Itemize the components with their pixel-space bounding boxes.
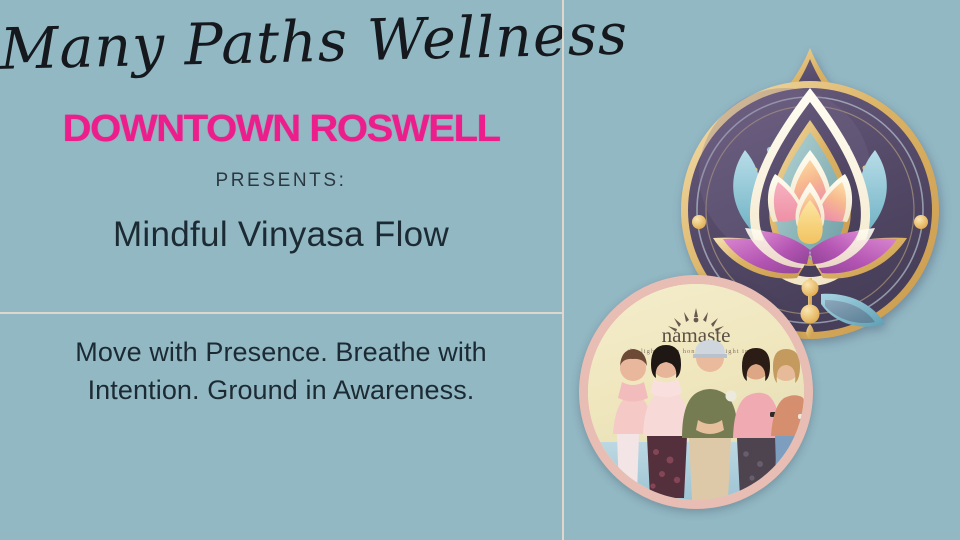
horizontal-divider: [0, 312, 562, 314]
presents-label: PRESENTS:: [0, 170, 562, 192]
flyer-canvas: Many Paths Wellness DOWNTOWN ROSWELL PRE…: [0, 0, 960, 540]
media-panel: Circular mandala badge with gold rim, da…: [563, 0, 960, 540]
person-5: [771, 349, 804, 496]
session-title: Mindful Vinyasa Flow: [0, 215, 562, 255]
team-photo: Round photo of five studio members stand…: [579, 275, 813, 509]
text-panel: Many Paths Wellness DOWNTOWN ROSWELL PRE…: [0, 0, 562, 540]
team-photo-description: Round photo of five studio members stand…: [579, 275, 580, 276]
brand-city-subtitle: DOWNTOWN ROSWELL: [0, 110, 579, 148]
tagline-text: Move with Presence. Breathe with Intenti…: [46, 333, 516, 410]
brand-script-title: Many Paths Wellness: [0, 7, 563, 81]
team-photo-illustration: namaste the light in me honors the light…: [588, 284, 804, 500]
team-photo-image: namaste the light in me honors the light…: [588, 284, 804, 500]
